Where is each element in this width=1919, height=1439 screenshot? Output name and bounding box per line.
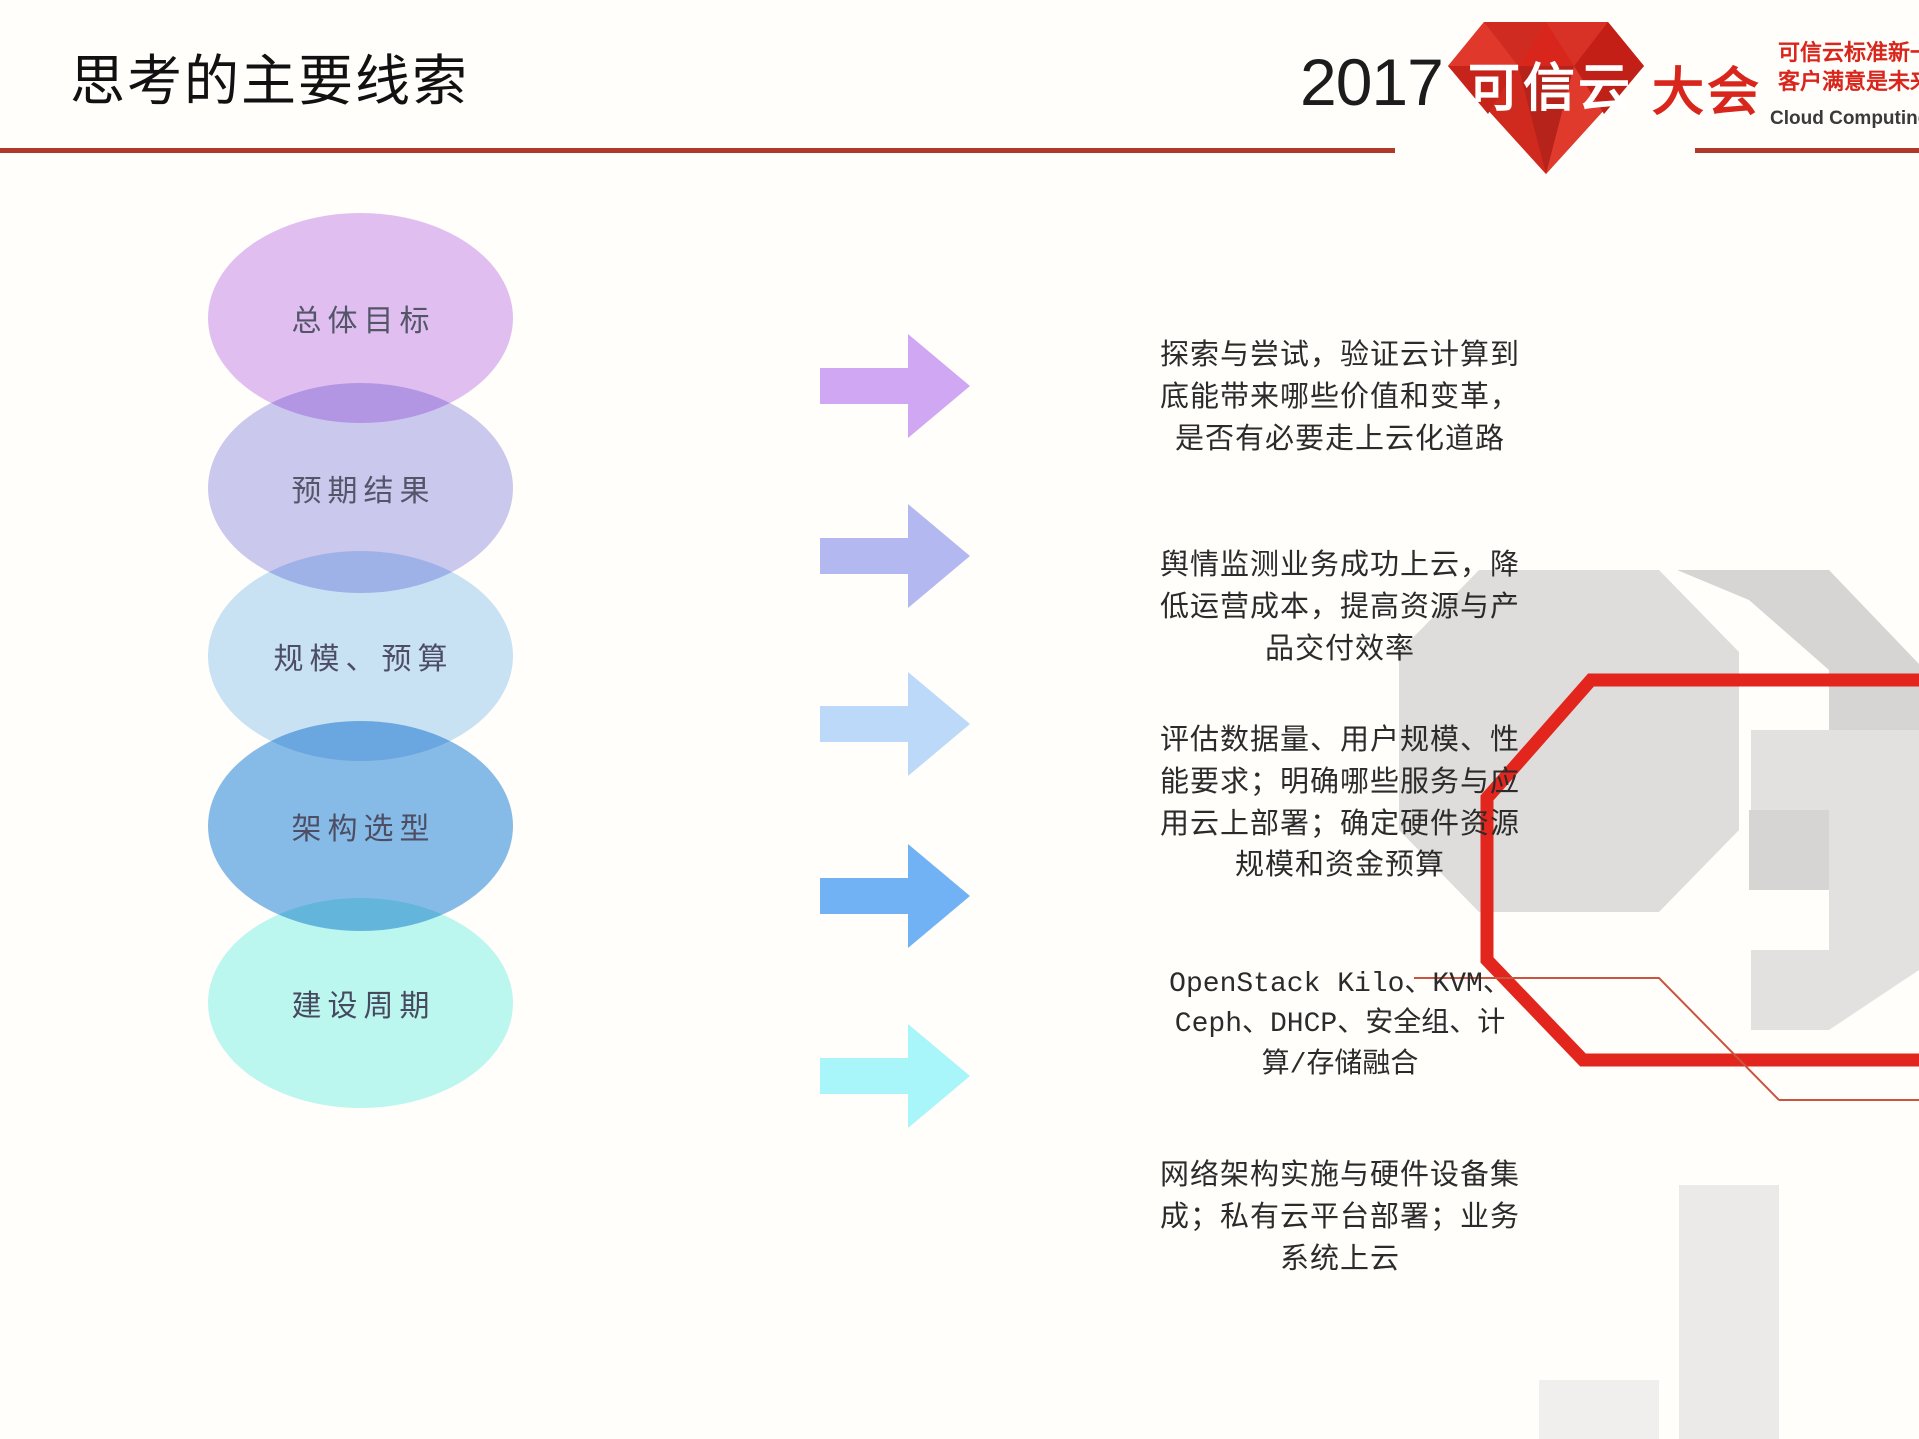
desc-line: 底能带来哪些价值和变革， [1080,377,1600,419]
desc-line: 品交付效率 [1080,629,1600,671]
stage-description-5: 网络架构实施与硬件设备集 成；私有云平台部署；业务 系统上云 [1080,1155,1600,1280]
stage-description-4: OpenStack Kilo、KVM、 Ceph、DHCP、安全组、计 算/存储… [1080,965,1600,1086]
desc-line: 成；私有云平台部署；业务 [1080,1197,1600,1239]
stage-arrow-2 [820,500,970,612]
desc-line: 网络架构实施与硬件设备集 [1080,1155,1600,1197]
stage-label-2: 预期结果 [286,466,436,510]
stage-label-3: 规模、预算 [268,634,454,678]
desc-line: 评估数据量、用户规模、性 [1080,720,1600,762]
stage-arrow-1 [820,330,970,442]
desc-line: OpenStack Kilo、KVM、 [1080,965,1600,1005]
stage-label-1: 总体目标 [286,296,436,340]
stage-ellipse-1[interactable]: 总体目标 [208,213,513,423]
slide-canvas: 思考的主要线索 2017 可信云 大会 可信云标准新一代 客户满意是未来 [0,0,1919,1439]
desc-line: 系统上云 [1080,1239,1600,1281]
desc-line: 探索与尝试，验证云计算到 [1080,335,1600,377]
desc-line: 低运营成本，提高资源与产 [1080,587,1600,629]
desc-line: Ceph、DHCP、安全组、计 [1080,1005,1600,1045]
stage-arrow-3 [820,668,970,780]
stage-arrow-5 [820,1020,970,1132]
stage-label-5: 建设周期 [286,981,436,1025]
desc-line: 能要求；明确哪些服务与应 [1080,762,1600,804]
stage-label-4: 架构选型 [286,804,436,848]
desc-line: 规模和资金预算 [1080,845,1600,887]
desc-line: 算/存储融合 [1080,1046,1600,1086]
desc-line: 是否有必要走上云化道路 [1080,419,1600,461]
process-flow-diagram: 总体目标 探索与尝试，验证云计算到 底能带来哪些价值和变革， 是否有必要走上云化… [0,0,1919,1439]
stage-description-3: 评估数据量、用户规模、性 能要求；明确哪些服务与应 用云上部署；确定硬件资源 规… [1080,720,1600,887]
desc-line: 用云上部署；确定硬件资源 [1080,804,1600,846]
stage-description-1: 探索与尝试，验证云计算到 底能带来哪些价值和变革， 是否有必要走上云化道路 [1080,335,1600,460]
stage-description-2: 舆情监测业务成功上云，降 低运营成本，提高资源与产 品交付效率 [1080,545,1600,670]
desc-line: 舆情监测业务成功上云，降 [1080,545,1600,587]
stage-arrow-4 [820,840,970,952]
